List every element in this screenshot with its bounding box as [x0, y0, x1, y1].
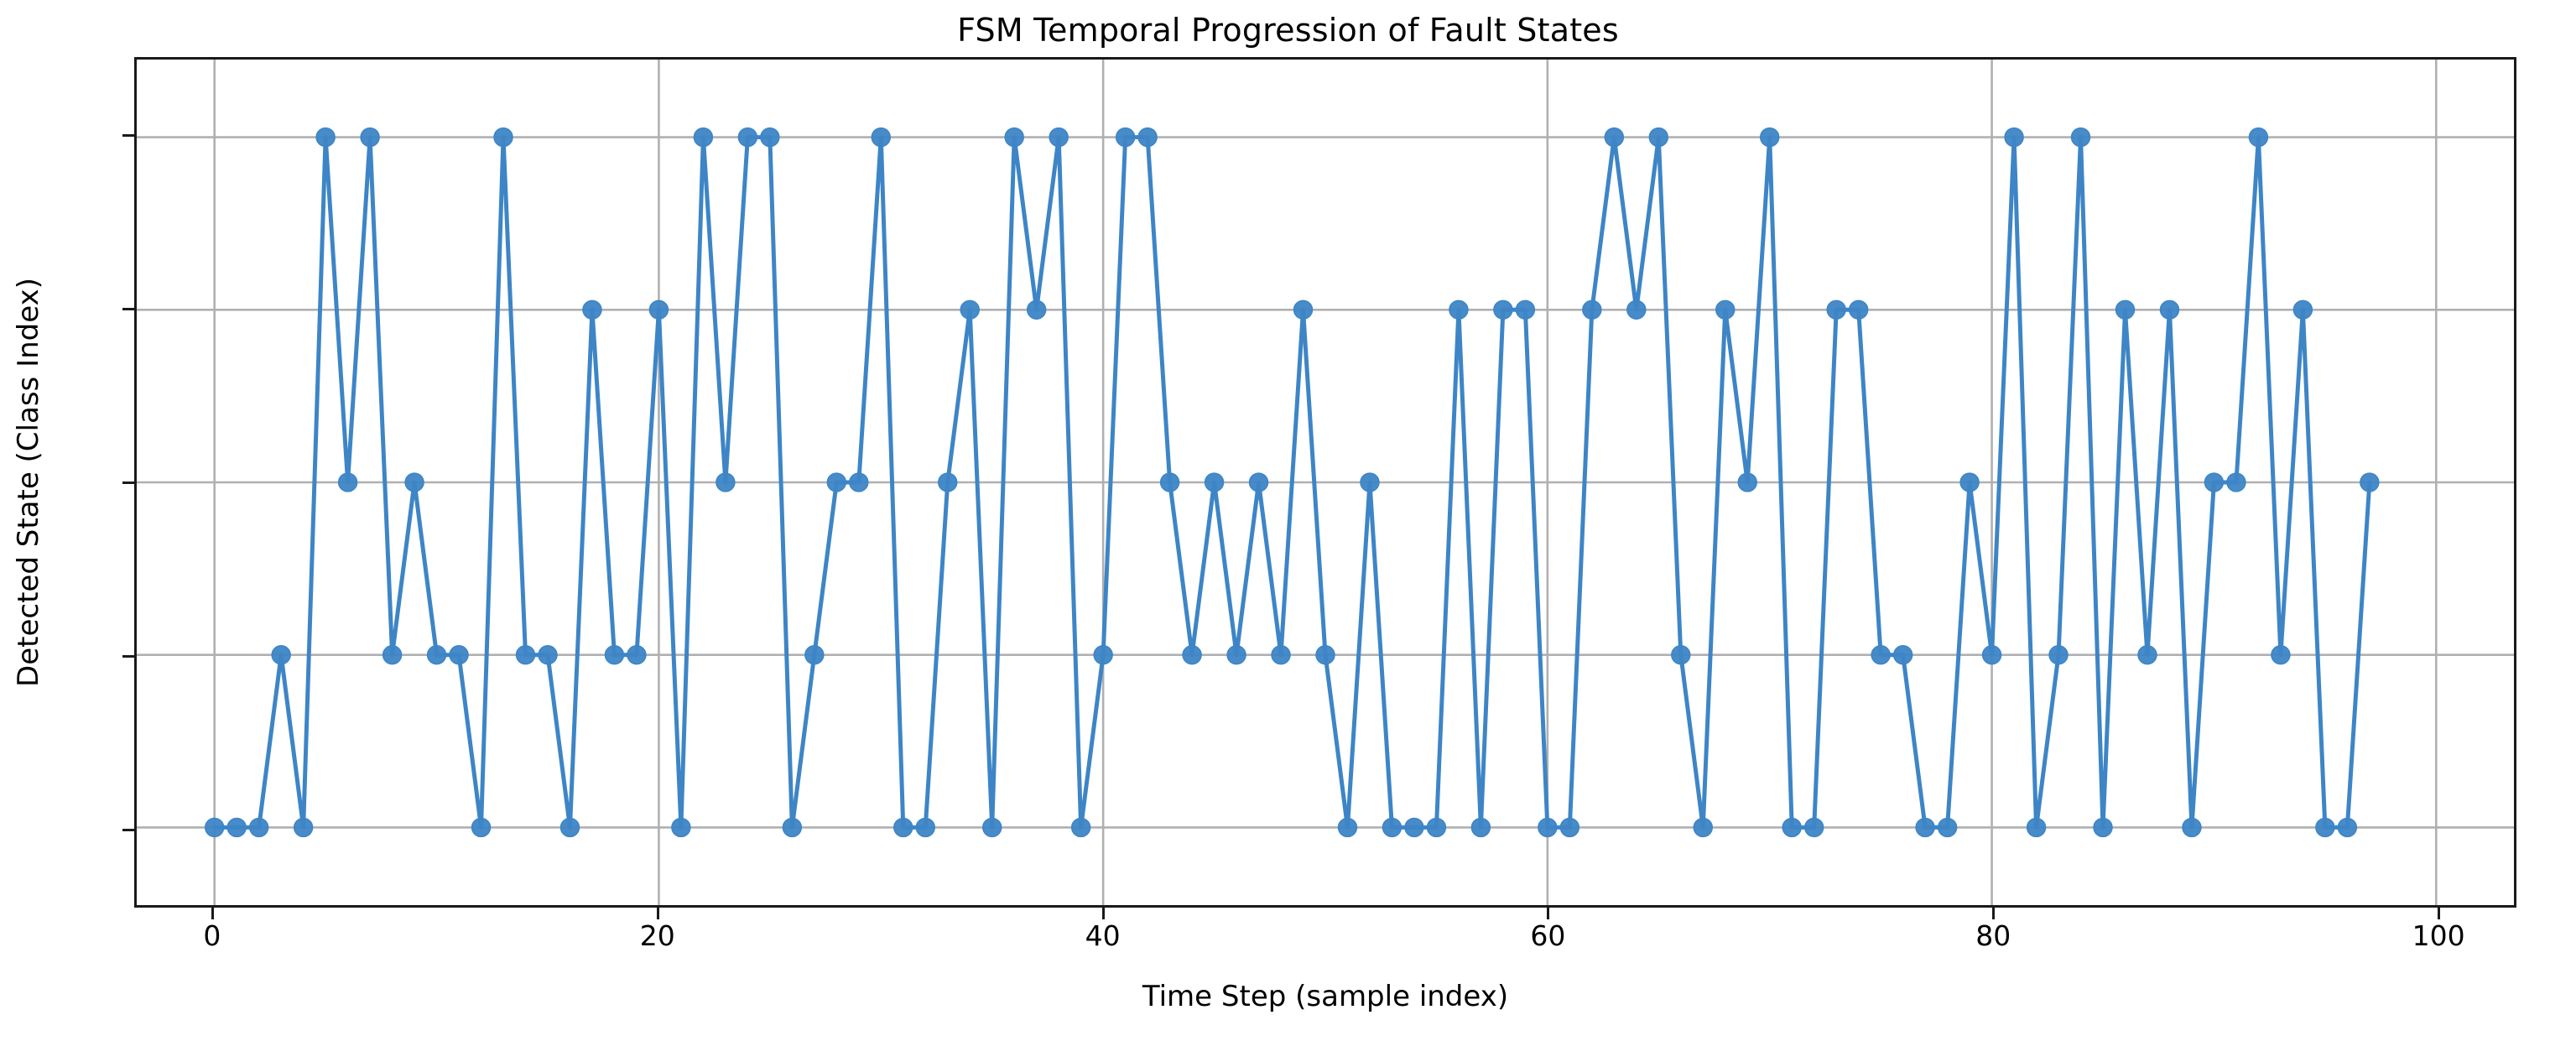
data-point-marker	[605, 646, 623, 664]
x-tick-mark	[2438, 908, 2440, 919]
data-point-marker	[294, 818, 313, 836]
y-tick-mark	[122, 829, 134, 831]
data-point-marker	[2072, 128, 2090, 147]
y-tick-mark	[122, 655, 134, 658]
x-tick-mark	[211, 908, 214, 919]
data-point-marker	[428, 646, 446, 664]
data-point-marker	[272, 646, 290, 664]
data-point-marker	[1427, 818, 1445, 836]
data-series-line	[137, 60, 2514, 905]
data-point-marker	[583, 300, 601, 319]
data-point-marker	[1138, 128, 1157, 147]
y-tick-mark	[122, 134, 134, 137]
data-point-marker	[2293, 300, 2312, 319]
data-point-marker	[672, 818, 690, 836]
data-point-marker	[517, 646, 535, 664]
data-point-marker	[827, 473, 846, 492]
data-point-marker	[2249, 128, 2267, 147]
x-tick-label-80: 80	[1975, 919, 2011, 952]
data-point-marker	[1250, 473, 1268, 492]
data-point-marker	[1183, 646, 1201, 664]
data-point-marker	[916, 818, 934, 836]
data-point-marker	[738, 128, 757, 147]
data-point-marker	[1560, 818, 1579, 836]
data-point-marker	[2316, 818, 2334, 836]
data-point-marker	[316, 128, 335, 147]
data-point-marker	[1782, 818, 1801, 836]
data-point-marker	[472, 818, 491, 836]
x-tick-label-100: 100	[2412, 919, 2465, 952]
data-point-marker	[2094, 818, 2112, 836]
data-point-marker	[405, 473, 424, 492]
data-point-marker	[2027, 818, 2046, 836]
data-point-marker	[361, 128, 379, 147]
data-point-marker	[2338, 818, 2356, 836]
data-point-marker	[2005, 128, 2023, 147]
data-point-marker	[560, 818, 579, 836]
data-point-marker	[983, 818, 1002, 836]
data-point-marker	[1339, 818, 1357, 836]
x-tick-label-40: 40	[1085, 919, 1121, 952]
data-point-marker	[1983, 646, 2001, 664]
x-tick-mark	[1102, 908, 1105, 919]
data-point-marker	[1227, 646, 1246, 664]
data-point-marker	[2204, 473, 2223, 492]
data-point-marker	[1516, 300, 1534, 319]
y-tick-mark	[122, 308, 134, 310]
data-point-marker	[783, 818, 801, 836]
data-point-marker	[2272, 646, 2290, 664]
data-point-marker	[1827, 300, 1845, 319]
data-point-marker	[227, 818, 246, 836]
data-point-marker	[1028, 300, 1046, 319]
data-point-marker	[1005, 128, 1023, 147]
data-point-marker	[1116, 128, 1135, 147]
plot-area	[134, 57, 2516, 908]
data-point-marker	[250, 818, 268, 836]
data-point-marker	[694, 128, 712, 147]
data-point-marker	[1871, 646, 1890, 664]
data-point-marker	[1939, 818, 1957, 836]
data-point-marker	[206, 818, 224, 836]
data-point-marker	[1471, 818, 1490, 836]
data-point-marker	[850, 473, 868, 492]
data-point-marker	[960, 300, 979, 319]
data-point-marker	[2360, 473, 2379, 492]
data-point-marker	[1738, 473, 1756, 492]
data-point-marker	[872, 128, 890, 147]
data-point-marker	[1916, 818, 1934, 836]
data-point-marker	[1850, 300, 1868, 319]
data-point-marker	[1049, 128, 1068, 147]
data-point-marker	[805, 646, 824, 664]
data-point-marker	[339, 473, 357, 492]
x-tick-label-0: 0	[203, 919, 221, 952]
data-point-marker	[1805, 818, 1824, 836]
data-point-marker	[2049, 646, 2068, 664]
data-point-marker	[494, 128, 513, 147]
data-point-marker	[649, 300, 668, 319]
chart-title: FSM Temporal Progression of Fault States	[0, 12, 2576, 49]
data-point-marker	[2227, 473, 2246, 492]
x-axis-label: Time Step (sample index)	[134, 980, 2516, 1013]
data-point-marker	[1627, 300, 1646, 319]
data-point-marker	[1072, 818, 1090, 836]
data-point-marker	[1538, 818, 1557, 836]
y-axis-label: Detected State (Class Index)	[12, 57, 49, 908]
data-point-marker	[716, 473, 735, 492]
data-point-marker	[1094, 646, 1112, 664]
data-point-marker	[539, 646, 557, 664]
x-tick-label-60: 60	[1530, 919, 1565, 952]
chart-figure: FSM Temporal Progression of Fault States…	[0, 0, 2576, 1041]
data-point-marker	[1316, 646, 1335, 664]
data-point-marker	[2160, 300, 2178, 319]
data-point-marker	[1361, 473, 1379, 492]
data-point-marker	[1161, 473, 1179, 492]
data-point-marker	[2116, 300, 2135, 319]
data-point-marker	[1694, 818, 1712, 836]
series-polyline	[215, 138, 2370, 828]
y-tick-mark	[122, 481, 134, 484]
data-point-marker	[939, 473, 957, 492]
data-point-marker	[1672, 646, 1690, 664]
x-tick-label-20: 20	[640, 919, 675, 952]
data-point-marker	[627, 646, 646, 664]
data-point-marker	[1449, 300, 1468, 319]
data-point-marker	[1382, 818, 1401, 836]
x-tick-mark	[1992, 908, 1995, 919]
data-point-marker	[1894, 646, 1912, 664]
data-point-marker	[1494, 300, 1512, 319]
data-point-marker	[383, 646, 402, 664]
data-point-marker	[450, 646, 468, 664]
data-point-marker	[2183, 818, 2201, 836]
data-point-marker	[1960, 473, 1979, 492]
data-point-marker	[1649, 128, 1668, 147]
data-point-marker	[1761, 128, 1779, 147]
data-point-marker	[1716, 300, 1735, 319]
data-point-marker	[1294, 300, 1313, 319]
x-tick-mark	[657, 908, 659, 919]
data-point-marker	[1405, 818, 1423, 836]
data-point-marker	[894, 818, 913, 836]
data-point-marker	[1605, 128, 1623, 147]
data-point-marker	[1583, 300, 1601, 319]
data-point-marker	[1272, 646, 1290, 664]
data-point-marker	[2138, 646, 2157, 664]
x-tick-mark	[1547, 908, 1549, 919]
data-point-marker	[761, 128, 779, 147]
data-point-marker	[1205, 473, 1224, 492]
